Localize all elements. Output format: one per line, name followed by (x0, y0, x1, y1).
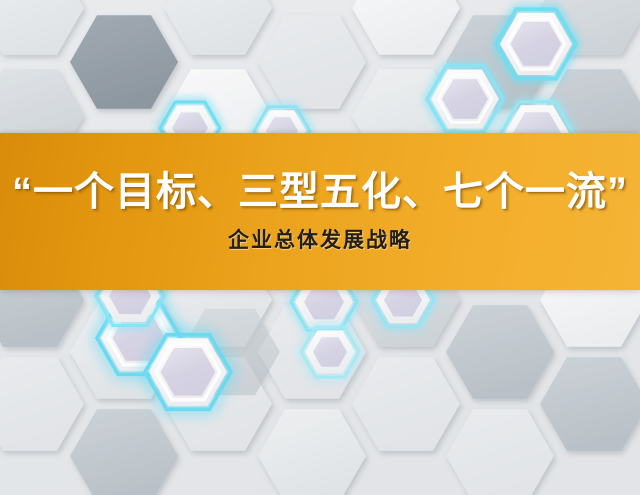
page-title: “一个目标、三型五化、七个一流” (2, 171, 638, 214)
title-banner: “一个目标、三型五化、七个一流” 企业总体发展战略 (0, 133, 640, 290)
title-slide: “一个目标、三型五化、七个一流” 企业总体发展战略 (0, 0, 640, 495)
page-subtitle: 企业总体发展战略 (228, 229, 412, 252)
banner-content: “一个目标、三型五化、七个一流” 企业总体发展战略 (0, 133, 640, 290)
